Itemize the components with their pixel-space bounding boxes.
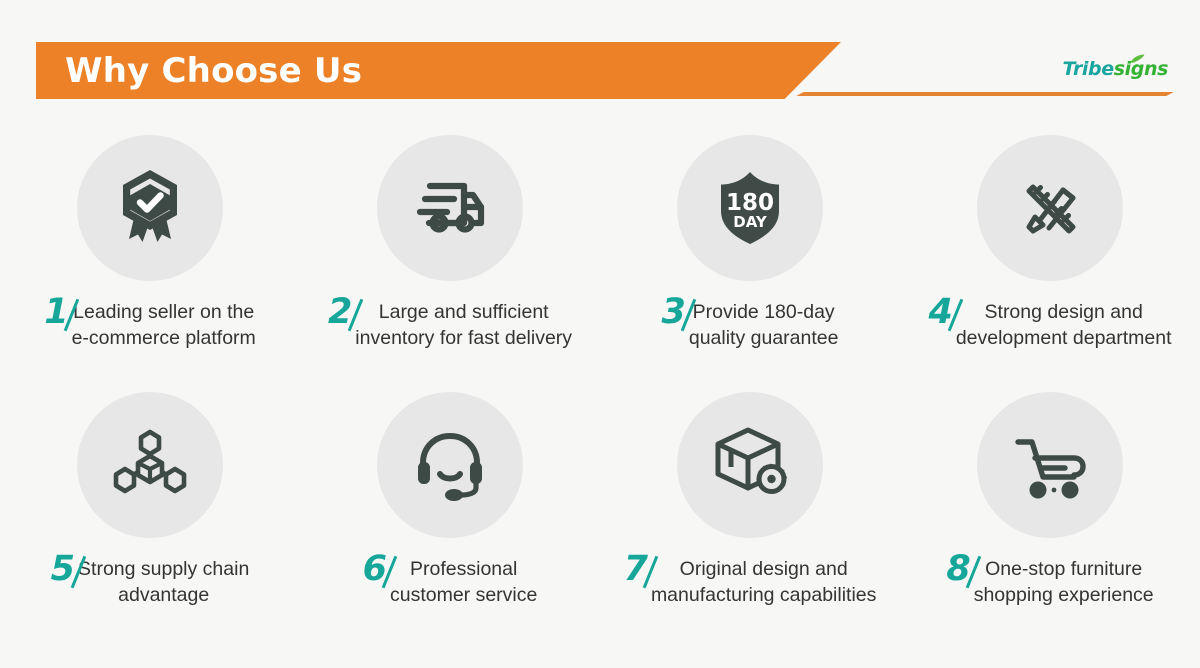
cart-wheel-right: [1062, 482, 1079, 499]
icon-circle: [77, 392, 223, 538]
badge-check-icon: [107, 165, 193, 251]
benefit-number: 8: [946, 553, 970, 586]
benefit-text: One-stop furniture shopping experience: [974, 557, 1154, 609]
icon-circle: [677, 392, 823, 538]
icon-circle: [977, 135, 1123, 281]
logo-text-primary: Tribe: [1062, 58, 1113, 80]
benefit-item-5[interactable]: 5 Strong supply chain advantage: [0, 388, 300, 644]
page-header: Why Choose Us Tribesigns: [0, 0, 1200, 118]
banner-accent-rule: [796, 92, 1174, 96]
benefit-text: Provide 180-day quality guarantee: [689, 300, 839, 352]
benefit-text: Large and sufficient inventory for fast …: [355, 300, 572, 352]
benefit-caption: 3 Provide 180-day quality guarantee: [600, 300, 900, 352]
benefit-item-1[interactable]: 1 Leading seller on the e-commerce platf…: [0, 132, 300, 388]
headset-support-icon: [407, 422, 493, 508]
shield-days-label: DAY: [733, 213, 768, 231]
icon-circle: [977, 392, 1123, 538]
benefit-number: 7: [624, 553, 648, 586]
benefit-item-4[interactable]: 4 Strong design and development departme…: [900, 132, 1200, 388]
benefit-number: 2: [328, 296, 352, 329]
benefit-text: Strong supply chain advantage: [78, 557, 249, 609]
benefit-caption: 8 One-stop furniture shopping experience: [900, 557, 1200, 609]
supply-chain-network-icon: [107, 422, 193, 508]
benefit-item-7[interactable]: 7 Original design and manufacturing capa…: [600, 388, 900, 644]
icon-circle: 180 DAY: [677, 135, 823, 281]
page-title: Why Choose Us: [36, 54, 362, 88]
benefit-item-3[interactable]: 180 DAY 3 Provide 180-day quality guaran…: [600, 132, 900, 388]
title-banner: Why Choose Us: [36, 42, 841, 99]
ruler-pencil-icon: [1007, 165, 1093, 251]
benefit-item-8[interactable]: 8 One-stop furniture shopping experience: [900, 388, 1200, 644]
benefit-text: Leading seller on the e-commerce platfor…: [72, 300, 256, 352]
benefit-caption: 6 Professional customer service: [300, 557, 600, 609]
icon-circle: [377, 392, 523, 538]
benefit-caption: 1 Leading seller on the e-commerce platf…: [0, 300, 300, 352]
benefit-number: 4: [928, 296, 952, 329]
benefit-text: Strong design and development department: [956, 300, 1172, 352]
benefit-number: 1: [44, 296, 68, 329]
benefit-number: 6: [363, 553, 387, 586]
benefit-text: Original design and manufacturing capabi…: [651, 557, 876, 609]
icon-circle: [377, 135, 523, 281]
benefit-number: 3: [662, 296, 686, 329]
cart-center-dot: [1052, 488, 1057, 493]
benefits-grid: 1 Leading seller on the e-commerce platf…: [0, 132, 1200, 644]
benefit-caption: 4 Strong design and development departme…: [900, 300, 1200, 352]
box-gear-icon: [707, 422, 793, 508]
benefit-caption: 7 Original design and manufacturing capa…: [600, 557, 900, 609]
shield-180-day-icon: 180 DAY: [707, 165, 793, 251]
shopping-cart-icon: [1007, 422, 1093, 508]
benefit-number: 5: [51, 553, 75, 586]
benefit-caption: 5 Strong supply chain advantage: [0, 557, 300, 609]
brand-logo[interactable]: Tribesigns: [1062, 60, 1168, 79]
benefit-caption: 2 Large and sufficient inventory for fas…: [300, 300, 600, 352]
cart-wheel-left: [1030, 482, 1047, 499]
delivery-truck-icon: [407, 165, 493, 251]
benefit-item-6[interactable]: 6 Professional customer service: [300, 388, 600, 644]
benefit-text: Professional customer service: [390, 557, 537, 609]
leaf-icon: [1130, 54, 1145, 63]
benefit-item-2[interactable]: 2 Large and sufficient inventory for fas…: [300, 132, 600, 388]
icon-circle: [77, 135, 223, 281]
